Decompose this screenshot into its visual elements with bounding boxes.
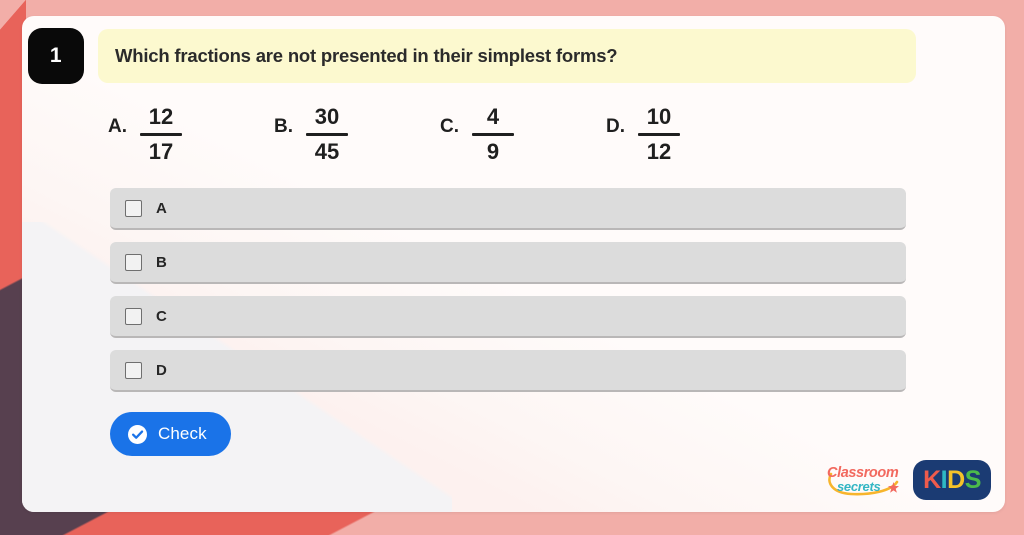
answer-option-c[interactable]: C <box>110 296 906 338</box>
fraction-bar-b <box>306 133 348 136</box>
question-banner: Which fractions are not presented in the… <box>98 29 916 83</box>
fraction-item-d: D. 10 12 <box>606 104 772 196</box>
fraction-numerator-d: 10 <box>647 104 671 131</box>
logo-group: Classroom secrets KIDS <box>825 460 991 500</box>
fraction-bar-a <box>140 133 182 136</box>
fraction-numerator-a: 12 <box>149 104 173 131</box>
answer-option-a[interactable]: A <box>110 188 906 230</box>
fraction-item-b: B. 30 45 <box>274 104 440 196</box>
check-button-label: Check <box>158 424 207 444</box>
fraction-denominator-b: 45 <box>315 139 339 166</box>
fraction-bar-d <box>638 133 680 136</box>
question-header: 1 Which fractions are not presented in t… <box>22 16 1005 94</box>
answer-option-label-b: B <box>156 254 167 271</box>
slide-root: 1 Which fractions are not presented in t… <box>0 0 1024 535</box>
fraction-label-d: D. <box>606 116 625 138</box>
fraction-denominator-d: 12 <box>647 139 671 166</box>
answer-option-b[interactable]: B <box>110 242 906 284</box>
classroom-secrets-word2: secrets <box>837 479 880 494</box>
kids-logo-text: KIDS <box>923 468 981 493</box>
decorative-frame-right <box>1002 0 1024 535</box>
fraction-numerator-c: 4 <box>487 104 499 131</box>
answer-option-d[interactable]: D <box>110 350 906 392</box>
checkbox-c[interactable] <box>125 308 142 325</box>
checkbox-d[interactable] <box>125 362 142 379</box>
fraction-value-c: 4 9 <box>472 104 514 166</box>
checkbox-b[interactable] <box>125 254 142 271</box>
answer-option-label-a: A <box>156 200 167 217</box>
checkbox-a[interactable] <box>125 200 142 217</box>
fraction-list: A. 12 17 B. 30 45 C. <box>108 104 928 196</box>
answer-option-label-d: D <box>156 362 167 379</box>
fraction-value-d: 10 12 <box>638 104 680 166</box>
fraction-value-a: 12 17 <box>140 104 182 166</box>
kids-letter-k: K <box>923 466 941 494</box>
fraction-bar-c <box>472 133 514 136</box>
answer-option-list: A B C D <box>110 188 906 404</box>
fraction-label-c: C. <box>440 116 459 138</box>
classroom-secrets-logo: Classroom secrets <box>825 462 905 498</box>
fraction-label-a: A. <box>108 116 127 138</box>
check-button[interactable]: Check <box>110 412 231 456</box>
fraction-numerator-b: 30 <box>315 104 339 131</box>
star-icon <box>888 482 899 493</box>
fraction-denominator-c: 9 <box>487 139 499 166</box>
kids-logo: KIDS <box>913 460 991 500</box>
kids-letter-s: S <box>965 466 981 494</box>
question-card: 1 Which fractions are not presented in t… <box>22 16 1005 512</box>
question-number-badge: 1 <box>28 28 84 84</box>
check-circle-icon <box>128 425 147 444</box>
kids-letter-d: D <box>947 466 965 494</box>
question-text: Which fractions are not presented in the… <box>115 45 617 67</box>
fraction-label-b: B. <box>274 116 293 138</box>
fraction-item-a: A. 12 17 <box>108 104 274 196</box>
fraction-item-c: C. 4 9 <box>440 104 606 196</box>
answer-option-label-c: C <box>156 308 167 325</box>
fraction-denominator-a: 17 <box>149 139 173 166</box>
fraction-value-b: 30 45 <box>306 104 348 166</box>
